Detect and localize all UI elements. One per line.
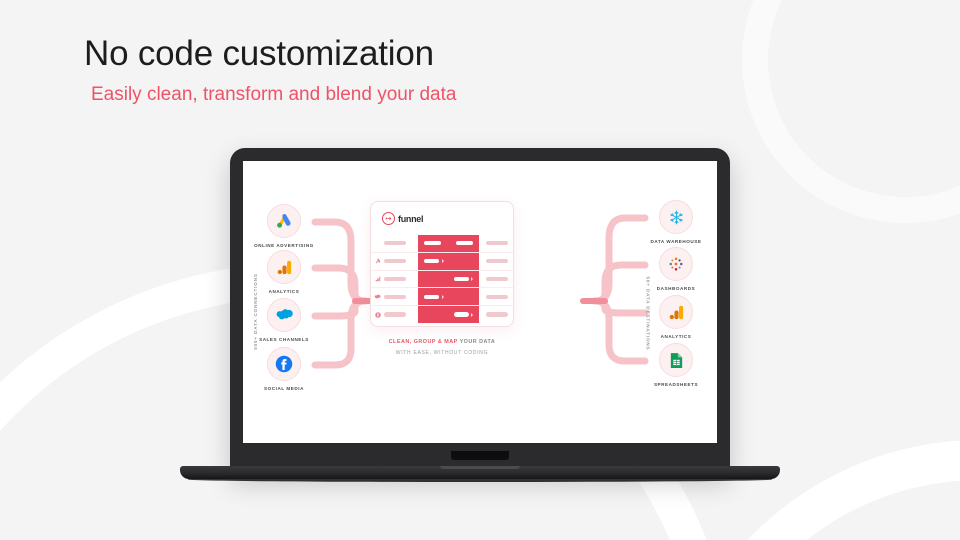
google-analytics-icon <box>659 295 693 329</box>
laptop-lid: 500+ DATA CONNECTIONS ONLINE ADVERTISING <box>230 148 730 473</box>
destination-node-label: SPREADSHEETS <box>645 382 707 389</box>
grid-row <box>371 270 514 288</box>
google-sheets-icon <box>659 343 693 377</box>
funnel-logo: funnel <box>382 212 423 225</box>
pill <box>454 312 469 316</box>
pill <box>486 295 508 299</box>
grid-header-row <box>371 235 514 252</box>
grid-cell-right <box>479 277 514 281</box>
destination-node-spreadsheets[interactable]: SPREADSHEETS <box>645 343 707 389</box>
data-flow-diagram: 500+ DATA CONNECTIONS ONLINE ADVERTISING <box>243 161 717 443</box>
facebook-icon <box>267 347 301 381</box>
page-title: No code customization <box>84 34 704 74</box>
pill <box>424 241 441 245</box>
snowflake-icon <box>659 200 693 234</box>
heading-block: No code customization Easily clean, tran… <box>84 34 704 106</box>
pill-group <box>424 259 444 263</box>
diagram-caption: CLEAN, GROUP & MAP YOUR DATA WITH EASE, … <box>355 339 529 356</box>
google-ads-icon <box>371 258 384 264</box>
salesforce-icon <box>371 294 384 300</box>
destination-node-data-warehouse[interactable]: DATA WAREHOUSE <box>645 200 707 246</box>
pill <box>456 241 473 245</box>
grid-cell-center <box>418 271 479 288</box>
grid-row <box>371 287 514 305</box>
grid-cell-right <box>479 259 514 263</box>
right-rail-label: 50+ DATA DESTINATIONS <box>645 277 650 351</box>
destination-node-analytics[interactable]: ANALYTICS <box>645 295 707 341</box>
pill-group <box>454 277 474 281</box>
grid-cell-left <box>371 276 418 282</box>
grid-row <box>371 305 514 323</box>
pill <box>486 277 508 281</box>
source-node-label: ANALYTICS <box>253 289 315 296</box>
pill <box>454 277 469 281</box>
funnel-logo-text: funnel <box>398 214 423 224</box>
pill <box>424 259 439 263</box>
source-node-label: ONLINE ADVERTISING <box>253 243 315 250</box>
grid-row <box>371 252 514 270</box>
pill <box>424 295 439 299</box>
grid-cell-left <box>371 312 418 318</box>
grid-cell-right <box>479 295 514 299</box>
pill <box>384 277 406 281</box>
salesforce-icon <box>267 298 301 332</box>
page-subtitle: Easily clean, transform and blend your d… <box>91 84 704 106</box>
caption-primary: CLEAN, GROUP & MAP YOUR DATA <box>355 339 529 345</box>
funnel-logo-icon <box>382 212 395 225</box>
source-node-social-media[interactable]: SOCIAL MEDIA <box>253 347 315 393</box>
google-analytics-icon <box>371 276 384 282</box>
chevron-right-icon <box>471 313 473 317</box>
grid-cell-center <box>418 288 479 305</box>
destination-node-label: ANALYTICS <box>645 334 707 341</box>
laptop-camera-notch <box>451 451 509 460</box>
chevron-right-icon <box>471 277 473 281</box>
source-node-online-advertising[interactable]: ONLINE ADVERTISING <box>253 204 315 250</box>
destination-node-dashboards[interactable]: DASHBOARDS <box>645 247 707 293</box>
chevron-right-icon <box>442 295 444 299</box>
chevron-right-icon <box>442 259 444 263</box>
pill <box>486 259 508 263</box>
pill <box>384 295 406 299</box>
pill-group <box>424 295 444 299</box>
tableau-icon <box>659 247 693 281</box>
caption-rest: YOUR DATA <box>460 339 496 345</box>
pill-group <box>454 312 474 316</box>
funnel-processing-card[interactable]: funnel <box>370 201 514 327</box>
grid-cell-left <box>371 258 418 264</box>
source-node-analytics[interactable]: ANALYTICS <box>253 250 315 296</box>
laptop-screen: 500+ DATA CONNECTIONS ONLINE ADVERTISING <box>243 161 717 443</box>
laptop-mockup: 500+ DATA CONNECTIONS ONLINE ADVERTISING <box>180 148 780 488</box>
grid-cell-center <box>418 253 479 270</box>
destination-node-label: DASHBOARDS <box>645 286 707 293</box>
google-analytics-icon <box>267 250 301 284</box>
grid-cell-right <box>479 312 514 316</box>
google-ads-icon <box>267 204 301 238</box>
pill <box>486 312 508 316</box>
grid-cell-center <box>418 306 479 323</box>
caption-secondary: WITH EASE, WITHOUT CODING <box>355 350 529 356</box>
grid-cell-center <box>418 235 479 252</box>
grid-cell-left <box>371 294 418 300</box>
pill <box>384 312 406 316</box>
source-node-label: SOCIAL MEDIA <box>253 386 315 393</box>
grid-cell-right <box>479 241 514 245</box>
grid-cell-left <box>371 241 418 245</box>
source-node-label: SALES CHANNELS <box>253 337 315 344</box>
pill <box>384 259 406 263</box>
source-node-sales-channels[interactable]: SALES CHANNELS <box>253 298 315 344</box>
destination-node-label: DATA WAREHOUSE <box>645 239 707 246</box>
pill <box>486 241 508 245</box>
pill <box>384 241 406 245</box>
funnel-data-grid <box>371 235 514 319</box>
caption-highlight: CLEAN, GROUP & MAP <box>389 339 458 345</box>
laptop-foot <box>188 477 772 482</box>
facebook-icon <box>371 312 384 318</box>
